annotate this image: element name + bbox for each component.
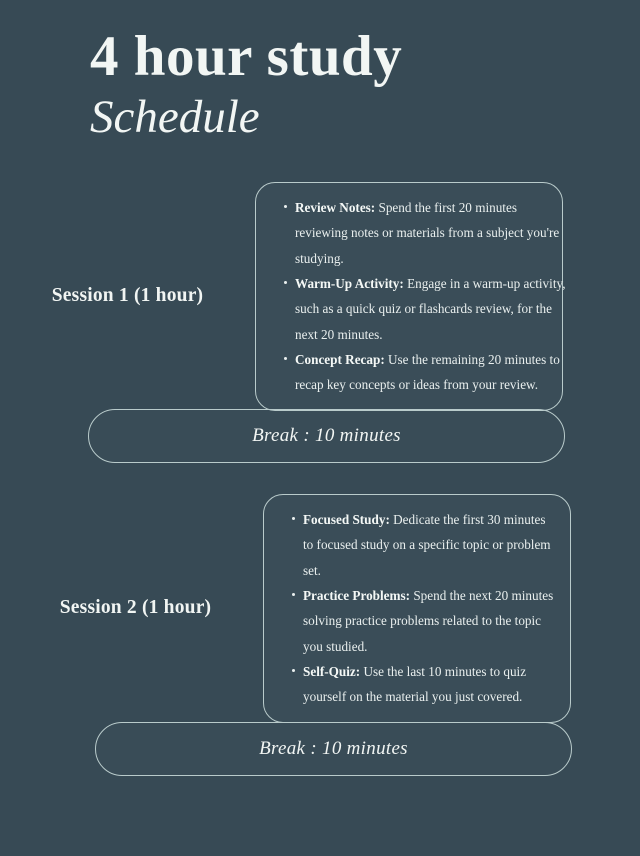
task-term: Warm-Up Activity:	[295, 276, 404, 291]
task-term: Self-Quiz:	[303, 664, 360, 679]
task-term: Concept Recap:	[295, 352, 385, 367]
list-item: Review Notes: Spend the first 20 minutes…	[284, 195, 570, 271]
session-2-card: Focused Study: Dedicate the first 30 min…	[263, 494, 571, 723]
session-row-1: Session 1 (1 hour) Review Notes: Spend t…	[0, 182, 640, 411]
session-1-card: Review Notes: Spend the first 20 minutes…	[255, 182, 563, 411]
break-bar-2: Break : 10 minutes	[95, 722, 572, 776]
list-item: Focused Study: Dedicate the first 30 min…	[292, 507, 556, 583]
page-header: 4 hour study Schedule	[90, 28, 570, 143]
task-term: Focused Study:	[303, 512, 390, 527]
list-item: Practice Problems: Spend the next 20 min…	[292, 583, 556, 659]
session-1-task-list: Review Notes: Spend the first 20 minutes…	[262, 195, 570, 398]
page-subtitle: Schedule	[90, 92, 570, 143]
session-row-2: Session 2 (1 hour) Focused Study: Dedica…	[8, 494, 640, 723]
session-2-task-list: Focused Study: Dedicate the first 30 min…	[270, 507, 556, 710]
list-item: Concept Recap: Use the remaining 20 minu…	[284, 347, 570, 398]
list-item: Self-Quiz: Use the last 10 minutes to qu…	[292, 659, 556, 710]
page-title: 4 hour study	[90, 28, 570, 86]
break-1-label: Break : 10 minutes	[252, 425, 401, 447]
break-bar-1: Break : 10 minutes	[88, 409, 565, 463]
session-1-label: Session 1 (1 hour)	[0, 285, 255, 307]
list-item: Warm-Up Activity: Engage in a warm-up ac…	[284, 271, 570, 347]
break-2-label: Break : 10 minutes	[259, 738, 408, 760]
session-2-label: Session 2 (1 hour)	[8, 597, 263, 619]
task-term: Practice Problems:	[303, 588, 410, 603]
task-term: Review Notes:	[295, 200, 375, 215]
